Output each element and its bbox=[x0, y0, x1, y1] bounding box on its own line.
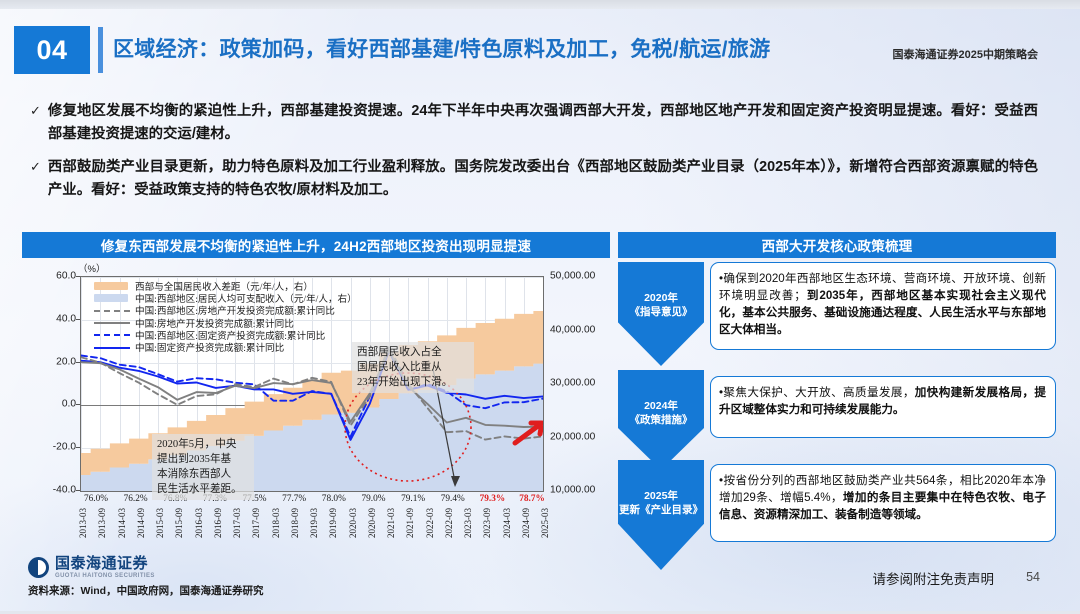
y-axis-tick-left: 20.0 bbox=[30, 356, 76, 367]
policy-box-2020: •确保到2020年西部地区生态环境、营商环境、开放环境、创新环境明显改善；到20… bbox=[710, 262, 1056, 350]
y-axis-tick-right: 30,000.00 bbox=[550, 378, 595, 389]
x-axis-tick-label: 2019-09 bbox=[328, 508, 338, 538]
page-title: 区域经济：政策加码，看好西部基建/特色原料及加工，免税/航运/旅游 bbox=[113, 33, 770, 63]
disclaimer-text: 请参阅附注免责声明 bbox=[873, 568, 995, 588]
y-axis-tick-left: 0.0 bbox=[30, 399, 76, 410]
x-axis-tick-label: 2024-03 bbox=[502, 508, 512, 538]
logo-circle-icon bbox=[28, 557, 49, 578]
bottom-percent-label: 77.7% bbox=[282, 494, 306, 504]
policy-doc: 《政策措施》 bbox=[630, 414, 693, 428]
policy-year: 2024年 bbox=[630, 400, 693, 414]
chart-legend: 西部与全国居民收入差距（元/年/人，右）中国:西部地区:居民人均可支配收入（元/… bbox=[94, 280, 357, 353]
bottom-percent-label: 79.3% bbox=[480, 494, 506, 504]
legend-item: 中国:固定资产投资完成额:累计同比 bbox=[94, 341, 357, 353]
grid-line-horizontal bbox=[81, 491, 543, 492]
policy-year: 2025年 bbox=[619, 490, 703, 504]
annotation-income-share-decline: 西部居民收入占全 国居民收入比重从 23年开始出现下滑。 bbox=[352, 342, 474, 393]
legend-swatch-line bbox=[94, 334, 130, 336]
y-axis-tick-right: 20,000.00 bbox=[550, 431, 595, 442]
policy-panel-title: 西部大开发核心政策梳理 bbox=[618, 232, 1056, 258]
policy-panel: 西部大开发核心政策梳理 2020年 《指导意见》 •确保到2020年西部地区生态… bbox=[618, 232, 1056, 552]
x-axis-tick-label: 2020-09 bbox=[367, 508, 377, 538]
y-axis-tick-left: 40.0 bbox=[30, 313, 76, 324]
legend-swatch bbox=[94, 343, 130, 352]
logo-text-cn: 国泰海通证券 bbox=[55, 556, 155, 571]
x-axis-tick-label: 2013-03 bbox=[78, 508, 88, 538]
policy-doc: 更新《产业目录》 bbox=[619, 504, 703, 518]
x-axis-tick-label: 2020-03 bbox=[348, 508, 358, 538]
chart-panel: 修复东西部发展不均衡的紧迫性上升，24H2西部地区投资出现明显提速 （%） -4… bbox=[22, 232, 610, 552]
legend-swatch bbox=[94, 330, 130, 339]
legend-swatch bbox=[94, 318, 130, 327]
chart-panel-title: 修复东西部发展不均衡的紧迫性上升，24H2西部地区投资出现明显提速 bbox=[22, 232, 610, 258]
logo-text-en: GUOTAI HAITONG SECURITIES bbox=[55, 573, 155, 579]
policy-doc: 《指导意见》 bbox=[630, 306, 693, 320]
x-axis-labels: 2013-032013-092014-032014-092015-032015-… bbox=[82, 508, 542, 552]
y-axis-tick-right: 40,000.00 bbox=[550, 324, 595, 335]
policy-box-2024: •聚焦大保护、大开放、高质量发展，加快构建新发展格局，提升区域整体实力和可持续发… bbox=[710, 376, 1056, 438]
x-axis-tick-label: 2022-03 bbox=[425, 508, 435, 538]
x-axis-tick-label: 2014-03 bbox=[117, 508, 127, 538]
bullet-text: 西部鼓励类产业目录更新，助力特色原料及加工行业盈利释放。国务院发改委出台《西部地… bbox=[48, 156, 1038, 203]
grid-line-vertical bbox=[543, 277, 544, 491]
policy-list: 2020年 《指导意见》 •确保到2020年西部地区生态环境、营商环境、开放环境… bbox=[618, 260, 1056, 552]
y-axis-tick-left: -40.0 bbox=[30, 485, 76, 496]
slide-root: 04 区域经济：政策加码，看好西部基建/特色原料及加工，免税/航运/旅游 国泰海… bbox=[0, 0, 1080, 614]
bottom-percent-label: 76.2% bbox=[124, 494, 148, 504]
bottom-percent-label: 78.0% bbox=[322, 494, 346, 504]
top-bar bbox=[0, 0, 1080, 9]
list-item: ✓ 西部鼓励类产业目录更新，助力特色原料及加工行业盈利释放。国务院发改委出台《西… bbox=[30, 156, 1038, 203]
slide-header: 04 区域经济：政策加码，看好西部基建/特色原料及加工，免税/航运/旅游 国泰海… bbox=[14, 26, 1070, 74]
source-note: 资料来源：Wind，中国政府网，国泰海通证券研究 bbox=[28, 583, 264, 598]
y-axis-tick-right: 50,000.00 bbox=[550, 271, 595, 282]
bullet-list: ✓ 修复地区发展不均衡的紧迫性上升，西部基建投资提速。24年下半年中央再次强调西… bbox=[30, 100, 1038, 211]
check-icon: ✓ bbox=[30, 156, 41, 203]
y-axis-tick-left: 60.0 bbox=[30, 271, 76, 282]
x-axis-tick-label: 2016-03 bbox=[194, 508, 204, 538]
legend-swatch-line bbox=[94, 310, 130, 312]
page-number: 54 bbox=[1026, 570, 1040, 584]
brand-logo: 国泰海通证券 GUOTAI HAITONG SECURITIES bbox=[28, 556, 155, 579]
legend-swatch bbox=[94, 294, 130, 303]
x-axis-tick-label: 2014-09 bbox=[136, 508, 146, 538]
policy-year: 2020年 bbox=[630, 292, 693, 306]
policy-chevron-2020: 2020年 《指导意见》 bbox=[618, 262, 704, 366]
annotation-policy-2020-may: 2020年5月，中央 提出到2035年基 本消除东西部人 民生活水平差距。 bbox=[152, 434, 254, 500]
x-axis-tick-label: 2018-03 bbox=[271, 508, 281, 538]
x-axis-tick-label: 2024-09 bbox=[521, 508, 531, 538]
bottom-percent-label: 79.0% bbox=[361, 494, 385, 504]
x-axis-tick-label: 2017-09 bbox=[251, 508, 261, 538]
policy-box-2025: •按省份分列的西部地区鼓励类产业共564条，相比2020年本净增加29条、增幅5… bbox=[710, 464, 1056, 542]
x-axis-tick-label: 2015-03 bbox=[155, 508, 165, 538]
y-axis-tick-left: -20.0 bbox=[30, 442, 76, 453]
policy-chevron-2024: 2024年 《政策措施》 bbox=[618, 370, 704, 470]
legend-swatch bbox=[94, 282, 130, 291]
y-axis-tick-right: 10,000.00 bbox=[550, 485, 595, 496]
y-axis-unit-label: （%） bbox=[78, 261, 105, 275]
x-axis-tick-label: 2017-03 bbox=[232, 508, 242, 538]
x-axis-tick-label: 2021-09 bbox=[405, 508, 415, 538]
bottom-percent-label: 79.4% bbox=[441, 494, 465, 504]
legend-swatch-line bbox=[94, 347, 130, 349]
bottom-percent-label: 79.1% bbox=[401, 494, 425, 504]
x-axis-tick-label: 2015-09 bbox=[174, 508, 184, 538]
x-axis-tick-label: 2022-09 bbox=[444, 508, 454, 538]
bottom-percent-label: 76.0% bbox=[84, 494, 108, 504]
bottom-percent-label: 78.7% bbox=[519, 494, 545, 504]
legend-label: 中国:固定资产投资完成额:累计同比 bbox=[135, 340, 284, 354]
x-axis-tick-label: 2016-09 bbox=[213, 508, 223, 538]
x-axis-tick-label: 2019-03 bbox=[309, 508, 319, 538]
title-divider bbox=[98, 27, 103, 73]
legend-swatch bbox=[94, 306, 130, 315]
policy-text-plain: 聚焦大保护、大开放、高质量发展， bbox=[723, 386, 915, 399]
chart-area: （%） -40.0-20.00.020.040.060.0 10,000.002… bbox=[22, 258, 610, 552]
bullet-text: 修复地区发展不均衡的紧迫性上升，西部基建投资提速。24年下半年中央再次强调西部大… bbox=[48, 100, 1038, 147]
check-icon: ✓ bbox=[30, 100, 41, 147]
x-axis-tick-label: 2013-09 bbox=[97, 508, 107, 538]
x-axis-tick-label: 2021-03 bbox=[386, 508, 396, 538]
x-axis-tick-label: 2025-03 bbox=[540, 508, 550, 538]
x-axis-tick-label: 2023-09 bbox=[482, 508, 492, 538]
bottom-percent-row: 76.0%76.2%76.8%77.3%77.5%77.7%78.0%79.0%… bbox=[82, 494, 542, 507]
legend-swatch-fill bbox=[94, 294, 128, 302]
legend-swatch-line bbox=[94, 322, 130, 324]
list-item: ✓ 修复地区发展不均衡的紧迫性上升，西部基建投资提速。24年下半年中央再次强调西… bbox=[30, 100, 1038, 147]
legend-swatch-fill bbox=[94, 282, 128, 290]
x-axis-tick-label: 2023-03 bbox=[463, 508, 473, 538]
slide-footer: 国泰海通证券 GUOTAI HAITONG SECURITIES 资料来源：Wi… bbox=[0, 552, 1080, 614]
section-number-badge: 04 bbox=[14, 26, 90, 74]
x-axis-tick-label: 2018-09 bbox=[290, 508, 300, 538]
event-label: 国泰海通证券2025中期策略会 bbox=[893, 46, 1038, 62]
